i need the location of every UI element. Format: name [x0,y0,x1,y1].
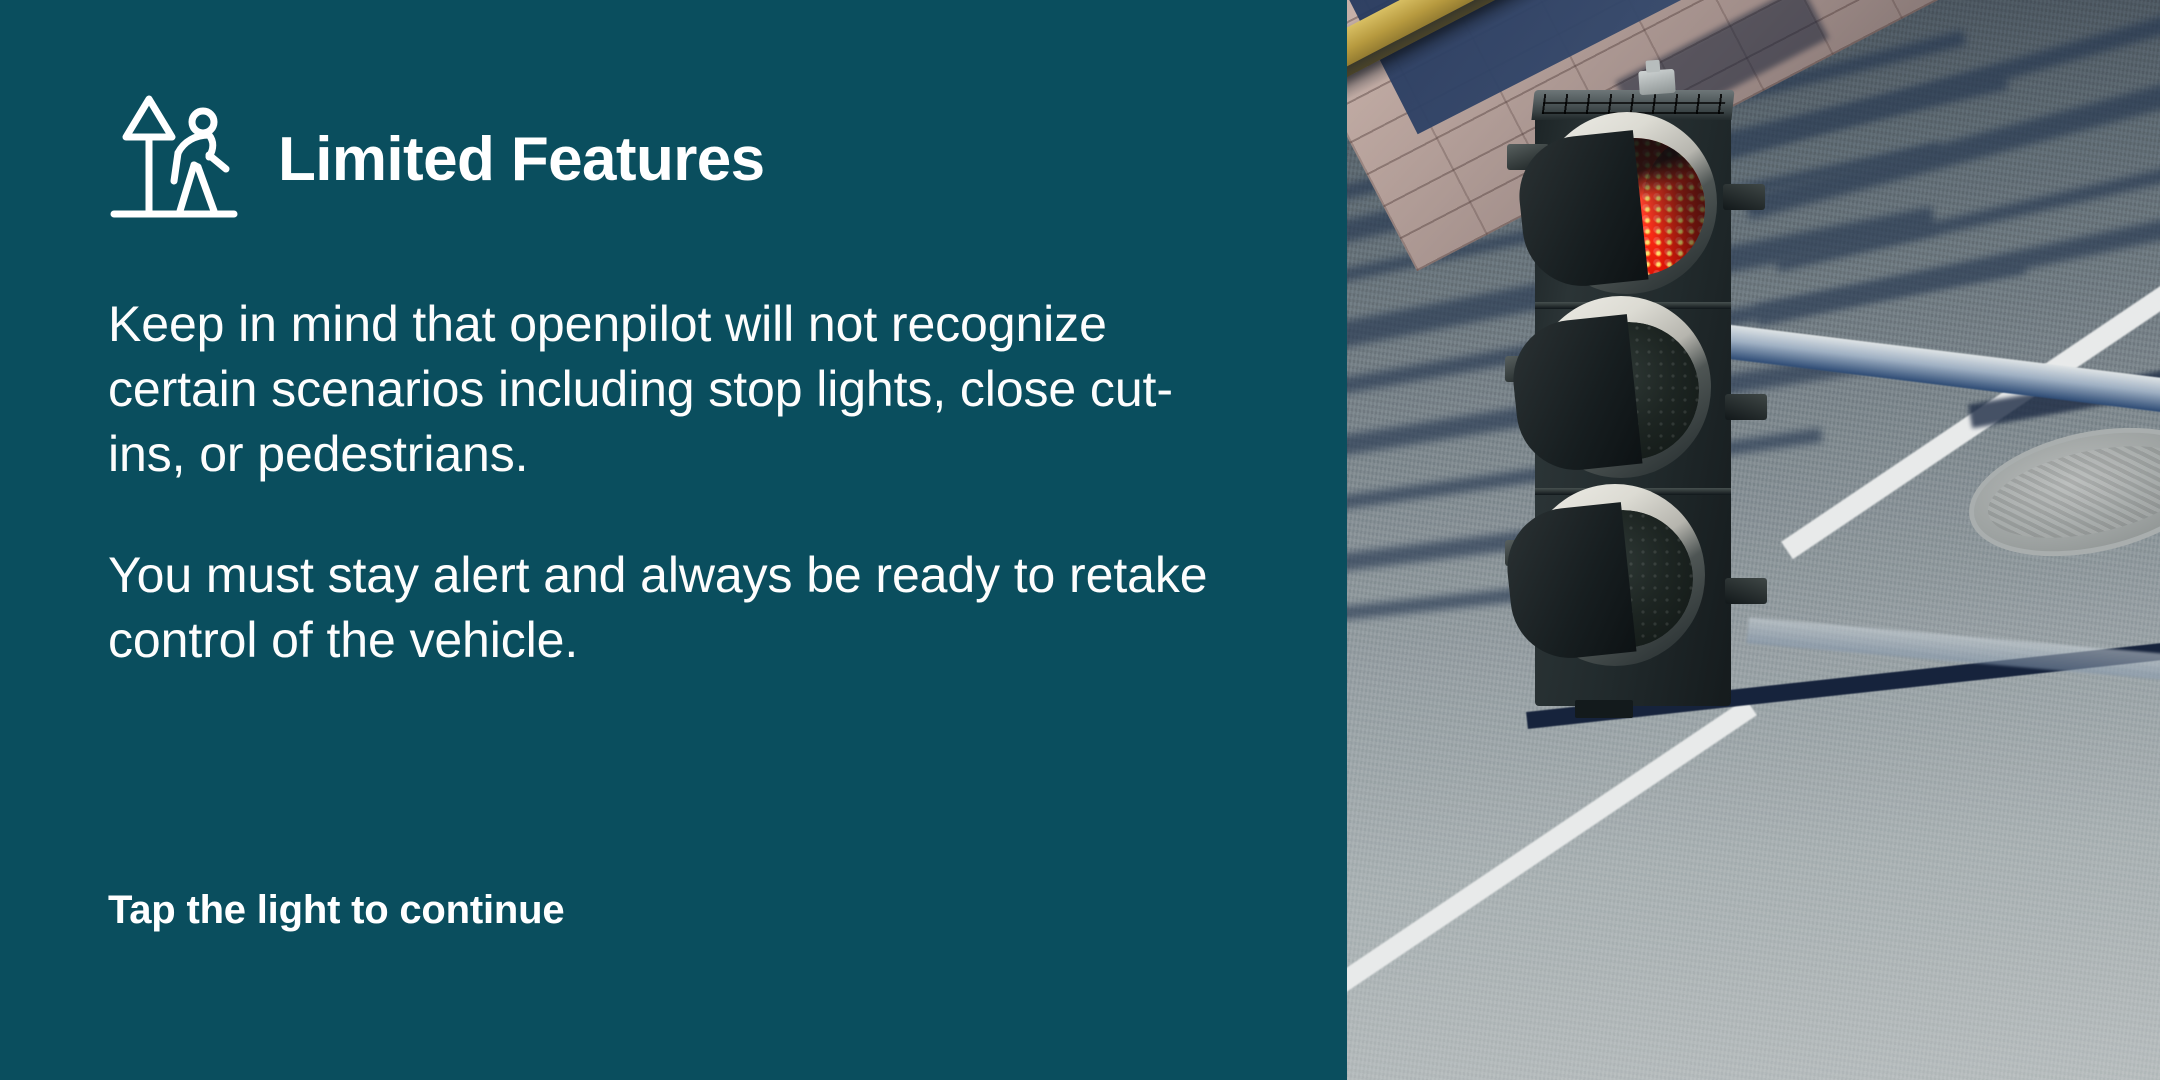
onboarding-screen: Limited Features Keep in mind that openp… [0,0,2160,1080]
description-paragraph-2: You must stay alert and always be ready … [108,543,1238,673]
mount-bracket [1725,578,1767,604]
info-panel: Limited Features Keep in mind that openp… [0,0,1347,1080]
description-paragraph-1: Keep in mind that openpilot will not rec… [108,292,1238,487]
traffic-light-yellow-lamp[interactable] [1531,296,1711,478]
traffic-light-base [1575,700,1633,718]
tap-hint-label: Tap the light to continue [108,888,564,933]
traffic-light-sensor [1638,69,1676,95]
mount-bracket [1723,184,1765,210]
traffic-light-green-lamp[interactable] [1525,484,1705,666]
traffic-light-red-lamp[interactable] [1537,112,1717,294]
traffic-light[interactable] [1519,88,1749,710]
page-title: Limited Features [278,129,765,191]
pedestrian-crossing-icon [108,89,240,223]
traffic-light-photo[interactable] [1347,0,2160,1080]
photo-canvas [1347,0,2160,1080]
description-block: Keep in mind that openpilot will not rec… [108,292,1238,673]
title-row: Limited Features [108,86,1347,226]
mount-bracket [1725,394,1767,420]
traffic-light-top-grille [1542,94,1726,114]
